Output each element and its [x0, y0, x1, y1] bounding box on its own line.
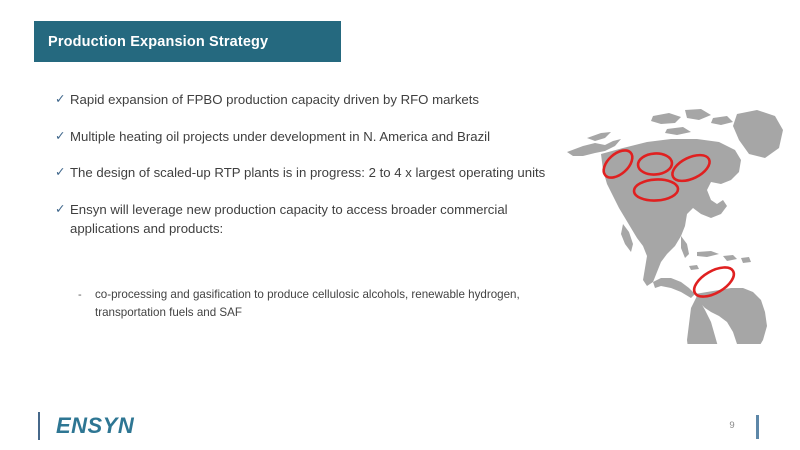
map-svg — [561, 96, 799, 344]
sub-bullet-text: co-processing and gasification to produc… — [95, 286, 548, 322]
checkmark-icon: ✓ — [55, 163, 70, 182]
map-landmass — [567, 109, 783, 344]
list-item: ✓ Multiple heating oil projects under de… — [55, 127, 555, 147]
brand-logo: ENSYN — [38, 410, 134, 442]
bullet-text: Ensyn will leverage new production capac… — [70, 200, 555, 239]
checkmark-icon: ✓ — [55, 127, 70, 146]
list-item: - co-processing and gasification to prod… — [78, 286, 548, 322]
bullet-list: ✓ Rapid expansion of FPBO production cap… — [55, 90, 555, 239]
list-item: ✓ Ensyn will leverage new production cap… — [55, 200, 555, 239]
checkmark-icon: ✓ — [55, 200, 70, 219]
logo-divider-icon — [38, 412, 40, 440]
slide-title-bar: Production Expansion Strategy — [34, 21, 341, 62]
logo-wordmark: ENSYN — [56, 413, 134, 439]
americas-map-image — [561, 96, 799, 344]
bullet-text: Multiple heating oil projects under deve… — [70, 127, 555, 147]
bullet-text: The design of scaled-up RTP plants is in… — [70, 163, 555, 183]
checkmark-icon: ✓ — [55, 90, 70, 109]
sub-bullet-list: - co-processing and gasification to prod… — [78, 286, 548, 322]
dash-bullet-icon: - — [78, 286, 95, 304]
page-title: Production Expansion Strategy — [48, 34, 268, 50]
list-item: ✓ The design of scaled-up RTP plants is … — [55, 163, 555, 183]
footer-accent-bar — [756, 415, 759, 439]
page-number: 9 — [722, 420, 742, 431]
list-item: ✓ Rapid expansion of FPBO production cap… — [55, 90, 555, 110]
bullet-text: Rapid expansion of FPBO production capac… — [70, 90, 555, 110]
